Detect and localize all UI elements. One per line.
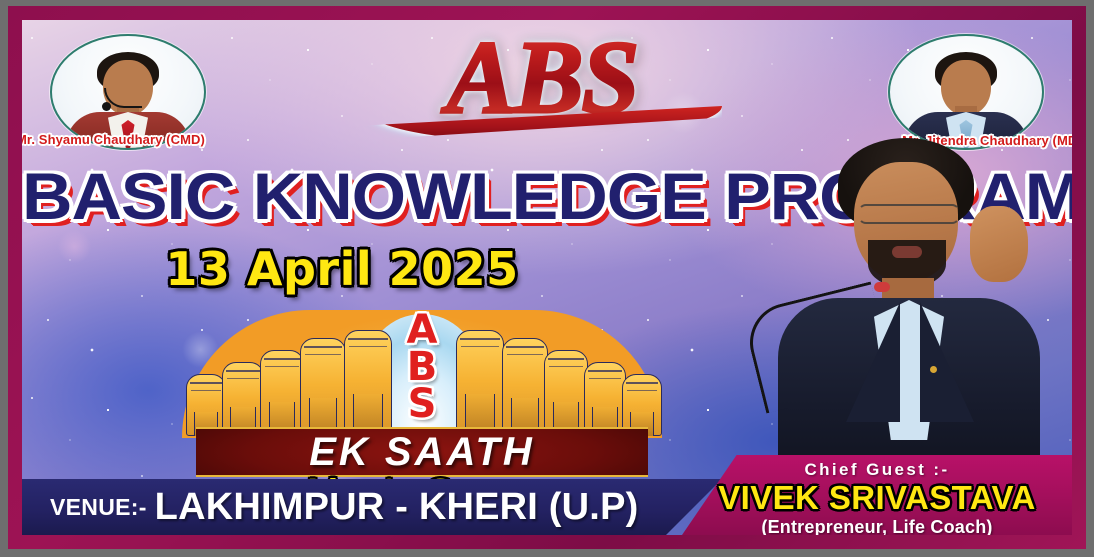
guest-mouth (892, 246, 922, 258)
chief-guest-panel: Chief Guest :- VIVEK SRIVASTAVA (Entrepr… (682, 455, 1072, 535)
abs-logo: ABS (352, 22, 732, 147)
microphone-head-icon (874, 282, 890, 292)
guest-raised-hand (970, 206, 1028, 282)
emblem-banner-text: EK SAATH (309, 431, 534, 473)
emblem-letter-s: S (377, 386, 467, 423)
venue-value: LAKHIMPUR - KHERI (U.P) (155, 486, 639, 529)
lapel-pin-icon (930, 366, 937, 373)
event-date: 13 April 2025 (22, 242, 662, 296)
venue-bar: VENUE:- LAKHIMPUR - KHERI (U.P) (22, 479, 722, 535)
portrait-cmd-label: Mr. Shyamu Chaudhary (CMD) (22, 132, 186, 147)
chief-guest-heading: Chief Guest :- (682, 460, 1072, 480)
poster-canvas: ABS Mr. Shyamu Chaudhary (CMD) Mr. Jiten… (22, 20, 1072, 535)
chief-guest-photo (742, 130, 1072, 470)
chief-guest-name: VIVEK SRIVASTAVA (682, 480, 1072, 516)
banner-poster: ABS Mr. Shyamu Chaudhary (CMD) Mr. Jiten… (0, 0, 1094, 557)
venue-label: VENUE:- (50, 494, 147, 521)
emblem-banner: EK SAATH (196, 427, 648, 477)
emblem-abs-letters: A B S (377, 312, 467, 423)
mic-tip-icon (102, 102, 111, 111)
eyeglasses-icon (858, 204, 960, 224)
chief-guest-credentials: (Entrepreneur, Life Coach) (682, 516, 1072, 535)
